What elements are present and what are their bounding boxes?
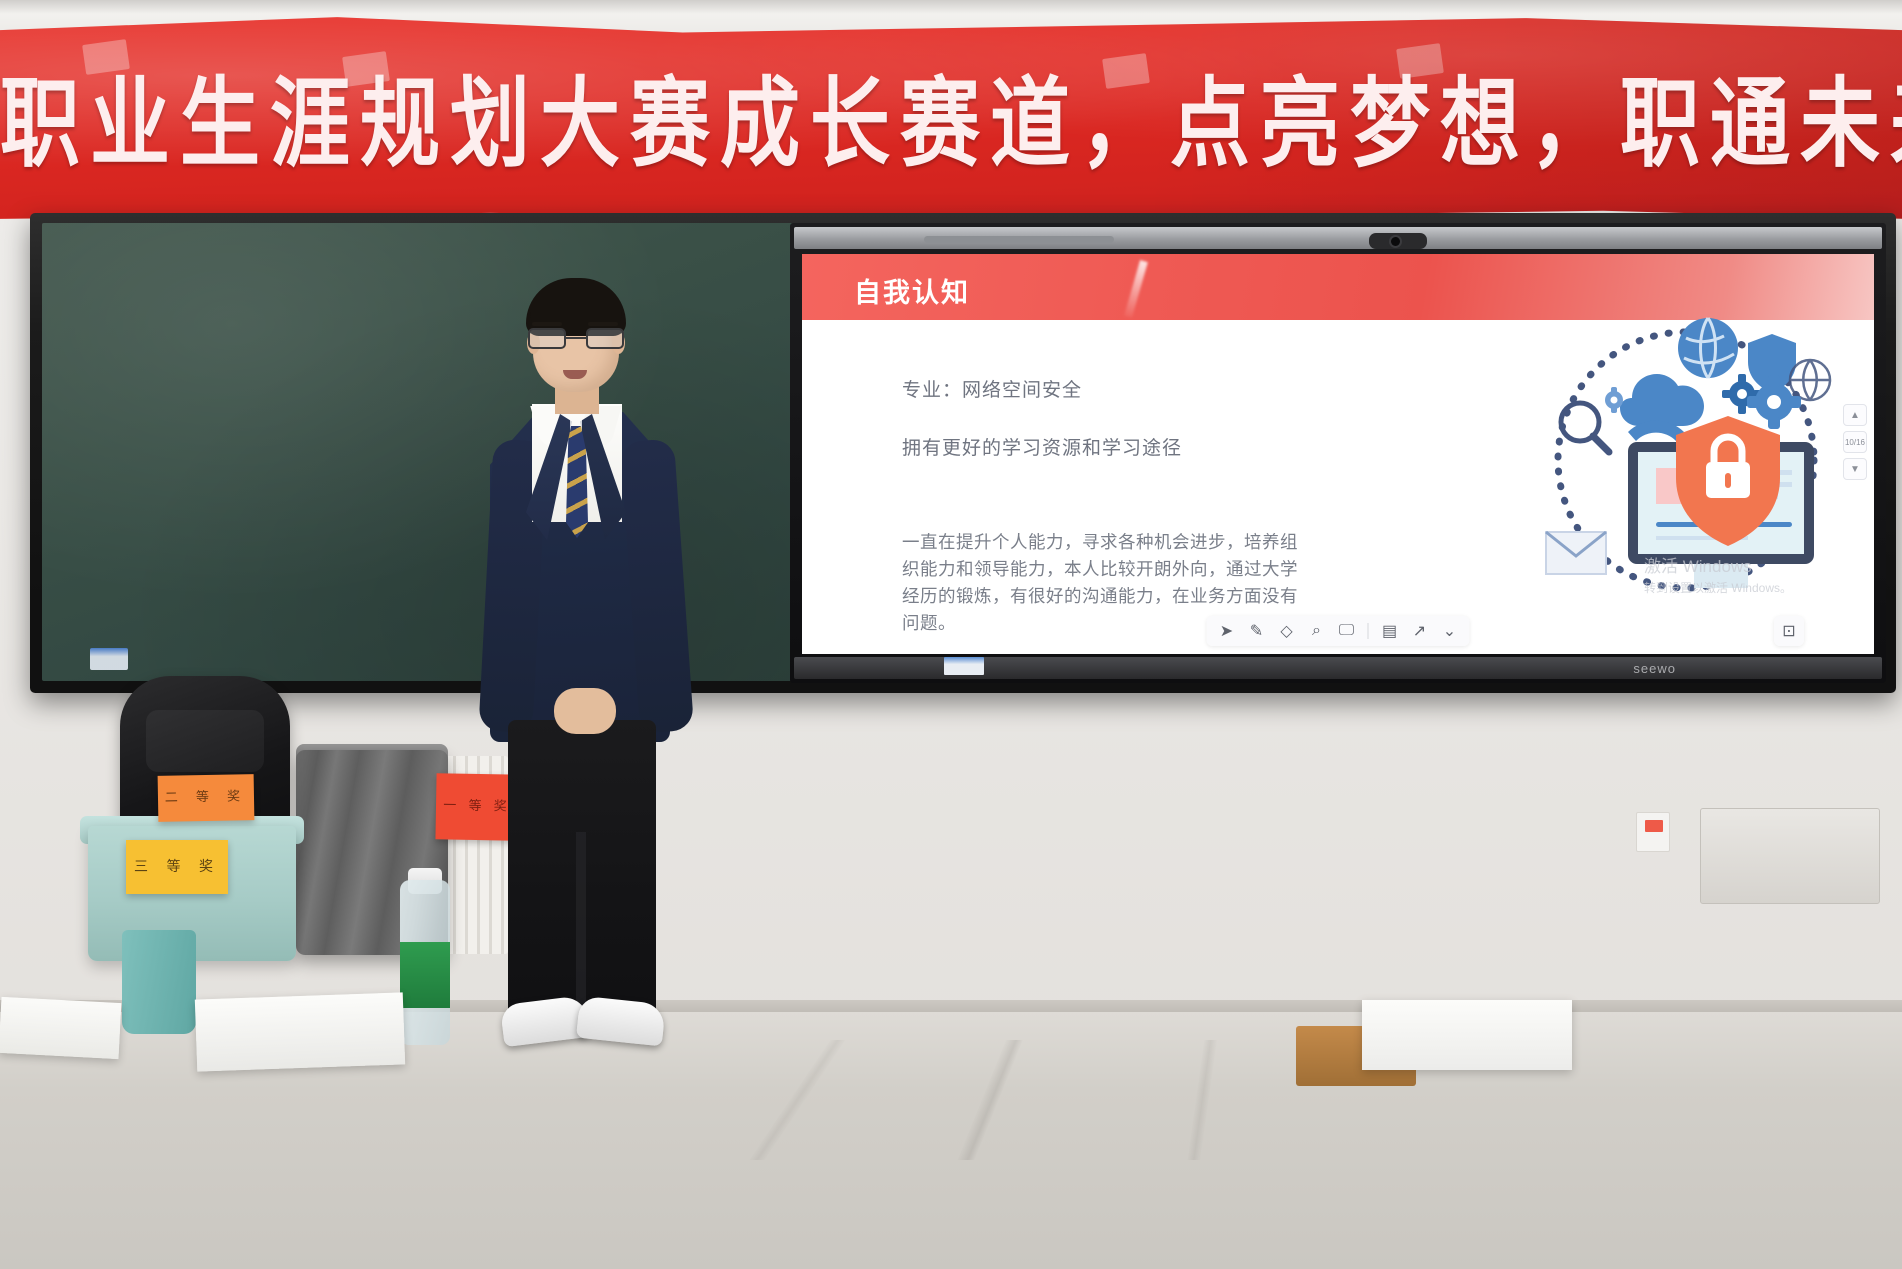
page-indicator: 10/16 bbox=[1843, 431, 1867, 453]
wall-switch[interactable] bbox=[1636, 812, 1670, 852]
presenter-hands bbox=[554, 688, 616, 734]
notes-icon[interactable]: ▤ bbox=[1377, 619, 1403, 643]
panel-top-bezel bbox=[794, 227, 1882, 249]
envelope-icon bbox=[1546, 532, 1606, 574]
panel-bottom-bezel bbox=[794, 657, 1882, 679]
eyeglasses-icon bbox=[528, 328, 624, 350]
paper-stack bbox=[1362, 1000, 1572, 1070]
chevron-down-icon[interactable]: ⌄ bbox=[1437, 619, 1463, 643]
page-up-control[interactable]: ▲ bbox=[1843, 404, 1867, 426]
panel-brand-label: seewo bbox=[1633, 661, 1676, 676]
banner-text: 职业生涯规划大赛成长赛道，点亮梦想，职通未来 bbox=[0, 45, 1902, 187]
cloud-icon bbox=[1620, 374, 1704, 426]
slide-line-sub: 拥有更好的学习资源和学习途径 bbox=[902, 433, 1182, 460]
presenter-brow-left bbox=[532, 322, 562, 326]
magnifier-icon bbox=[1561, 403, 1609, 452]
microphone-strip-icon bbox=[924, 236, 1114, 243]
cup bbox=[122, 930, 196, 1034]
eraser-icon[interactable]: ◇ bbox=[1274, 619, 1300, 643]
spotlight-icon[interactable]: 🖵 bbox=[1334, 619, 1360, 643]
panel-screen[interactable]: 自我认知 专业：网络空间安全 拥有更好的学习资源和学习途径 一直在提升个人能力，… bbox=[802, 254, 1874, 654]
paper-stack bbox=[0, 997, 121, 1059]
gear-icon bbox=[1747, 375, 1801, 429]
watermark-line-2: 转到设置以激活 Windows。 bbox=[1644, 579, 1792, 596]
lens-bridge bbox=[566, 337, 586, 339]
windows-activation-watermark: 激活 Windows 转到设置以激活 Windows。 bbox=[1644, 552, 1792, 596]
network-globe-icon bbox=[1790, 360, 1830, 400]
presentation-slide[interactable]: 自我认知 专业：网络空间安全 拥有更好的学习资源和学习途径 一直在提升个人能力，… bbox=[802, 254, 1874, 654]
second-prize-card: 二 等 奖 bbox=[158, 774, 255, 822]
annotation-toolbar[interactable]: ➤ ✎ ◇ ⌕ 🖵 ▤ ↗ ⌄ bbox=[1207, 616, 1470, 646]
panel-sticker bbox=[944, 657, 984, 675]
presenter bbox=[470, 272, 700, 1037]
cursor-icon[interactable]: ➤ bbox=[1214, 619, 1240, 643]
lens-left bbox=[528, 328, 566, 349]
third-prize-card: 三 等 奖 bbox=[126, 840, 228, 894]
interactive-flat-panel[interactable]: 自我认知 专业：网络空间安全 拥有更好的学习资源和学习途径 一直在提升个人能力，… bbox=[790, 223, 1886, 683]
presenter-brow-right bbox=[588, 322, 618, 326]
watermark-line-1: 激活 Windows bbox=[1644, 552, 1792, 577]
lens-right bbox=[586, 328, 624, 349]
bottle-label bbox=[400, 942, 450, 1008]
present-icon[interactable]: ⊡ bbox=[1774, 616, 1804, 646]
magnifier-icon[interactable]: ⌕ bbox=[1304, 619, 1330, 643]
page-navigation-controls[interactable]: ▲ 10/16 ▼ bbox=[1842, 404, 1868, 480]
chalkboard-sticker bbox=[90, 648, 128, 670]
pen-icon[interactable]: ✎ bbox=[1244, 619, 1270, 643]
wall-panel bbox=[1700, 808, 1880, 904]
slide-line-major: 专业：网络空间安全 bbox=[902, 375, 1082, 402]
page-down-control[interactable]: ▼ bbox=[1843, 458, 1867, 480]
toolbar-divider bbox=[1368, 623, 1369, 639]
slide-title: 自我认知 bbox=[854, 271, 970, 310]
presenter-leg-gap bbox=[576, 832, 586, 1022]
globe-icon bbox=[1678, 318, 1738, 378]
export-icon[interactable]: ↗ bbox=[1407, 619, 1433, 643]
camera-icon bbox=[1369, 233, 1427, 249]
classroom-scene: 职业生涯规划大赛成长赛道，点亮梦想，职通未来 自我认知 专业：网络空间安全 拥有… bbox=[0, 0, 1902, 1269]
ceiling-shadow bbox=[0, 0, 1902, 14]
paper-stack bbox=[195, 992, 405, 1071]
